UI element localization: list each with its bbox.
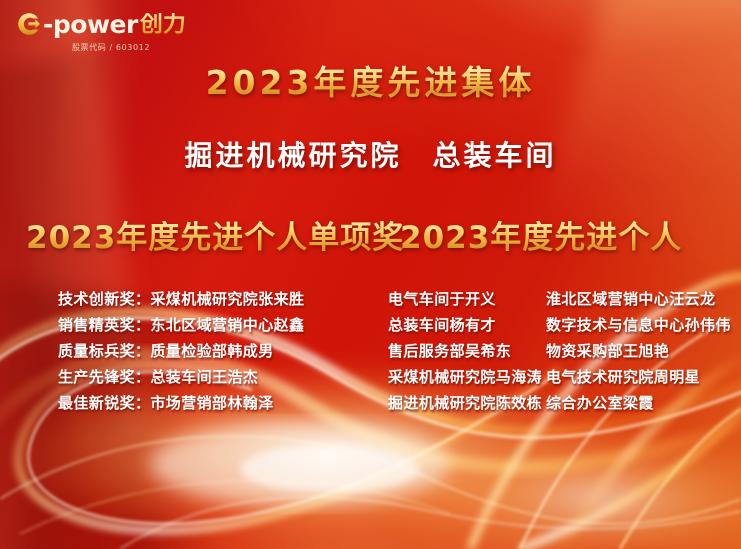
award-recipient: 掘进机械研究院陈效栋	[388, 390, 546, 416]
award-recipient: 东北区域营销中心赵鑫	[150, 316, 304, 334]
special-award-list: 技术创新奖：采煤机械研究院张来胜 销售精英奖：东北区域营销中心赵鑫 质量标兵奖：…	[58, 286, 358, 416]
award-name: 最佳新锐奖：	[58, 394, 150, 412]
list-item: 质量标兵奖：质量检验部韩成男	[58, 338, 358, 364]
award-recipient: 淮北区域营销中心汪云龙	[546, 286, 728, 312]
c-power-plug-icon	[16, 11, 42, 37]
award-name: 质量标兵奖：	[58, 342, 150, 360]
collective-winners-subtitle: 掘进机械研究院 总装车间	[0, 137, 741, 175]
award-banner: -power 创力 股票代码 / 603012 2023年度先进集体 掘进机械研…	[0, 0, 741, 549]
award-recipient: 物资采购部王旭艳	[546, 338, 728, 364]
award-name: 生产先锋奖：	[58, 368, 150, 386]
award-recipient: 总装车间王浩杰	[150, 368, 258, 386]
company-logo: -power 创力 股票代码 / 603012	[16, 9, 226, 57]
award-name: 技术创新奖：	[58, 290, 150, 308]
logo-text-en: -power	[43, 12, 138, 37]
page-title: 2023年度先进集体	[0, 62, 741, 104]
section-headings: 2023年度先进个人单项奖 2023年度先进个人	[0, 216, 741, 264]
award-recipient: 售后服务部吴希东	[388, 338, 546, 364]
list-item: 掘进机械研究院陈效栋 综合办公室梁霞	[388, 390, 728, 416]
award-recipient: 总装车间杨有才	[388, 312, 546, 338]
logo-text-cn: 创力	[140, 13, 186, 36]
heading-individual-awards: 2023年度先进个人	[400, 216, 682, 260]
award-recipient: 数字技术与信息中心孙伟伟	[546, 312, 731, 338]
award-recipient: 电气技术研究院周明星	[546, 364, 728, 390]
heading-individual-special-awards: 2023年度先进个人单项奖	[26, 216, 404, 260]
award-recipient: 质量检验部韩成男	[150, 342, 273, 360]
individual-award-list: 电气车间于开义 淮北区域营销中心汪云龙 总装车间杨有才 数字技术与信息中心孙伟伟…	[388, 286, 728, 416]
stock-code-label: 股票代码 / 603012	[16, 42, 206, 53]
list-item: 电气车间于开义 淮北区域营销中心汪云龙	[388, 286, 728, 312]
award-name: 销售精英奖：	[58, 316, 150, 334]
award-recipient: 电气车间于开义	[388, 286, 546, 312]
award-recipient: 采煤机械研究院马海涛	[388, 364, 546, 390]
list-item: 采煤机械研究院马海涛 电气技术研究院周明星	[388, 364, 728, 390]
list-item: 总装车间杨有才 数字技术与信息中心孙伟伟	[388, 312, 728, 338]
award-recipient: 综合办公室梁霞	[546, 390, 728, 416]
list-item: 售后服务部吴希东 物资采购部王旭艳	[388, 338, 728, 364]
list-item: 销售精英奖：东北区域营销中心赵鑫	[58, 312, 358, 338]
list-item: 技术创新奖：采煤机械研究院张来胜	[58, 286, 358, 312]
list-item: 生产先锋奖：总装车间王浩杰	[58, 364, 358, 390]
award-recipient: 采煤机械研究院张来胜	[150, 290, 304, 308]
list-item: 最佳新锐奖：市场营销部林翰泽	[58, 390, 358, 416]
award-recipient: 市场营销部林翰泽	[150, 394, 273, 412]
